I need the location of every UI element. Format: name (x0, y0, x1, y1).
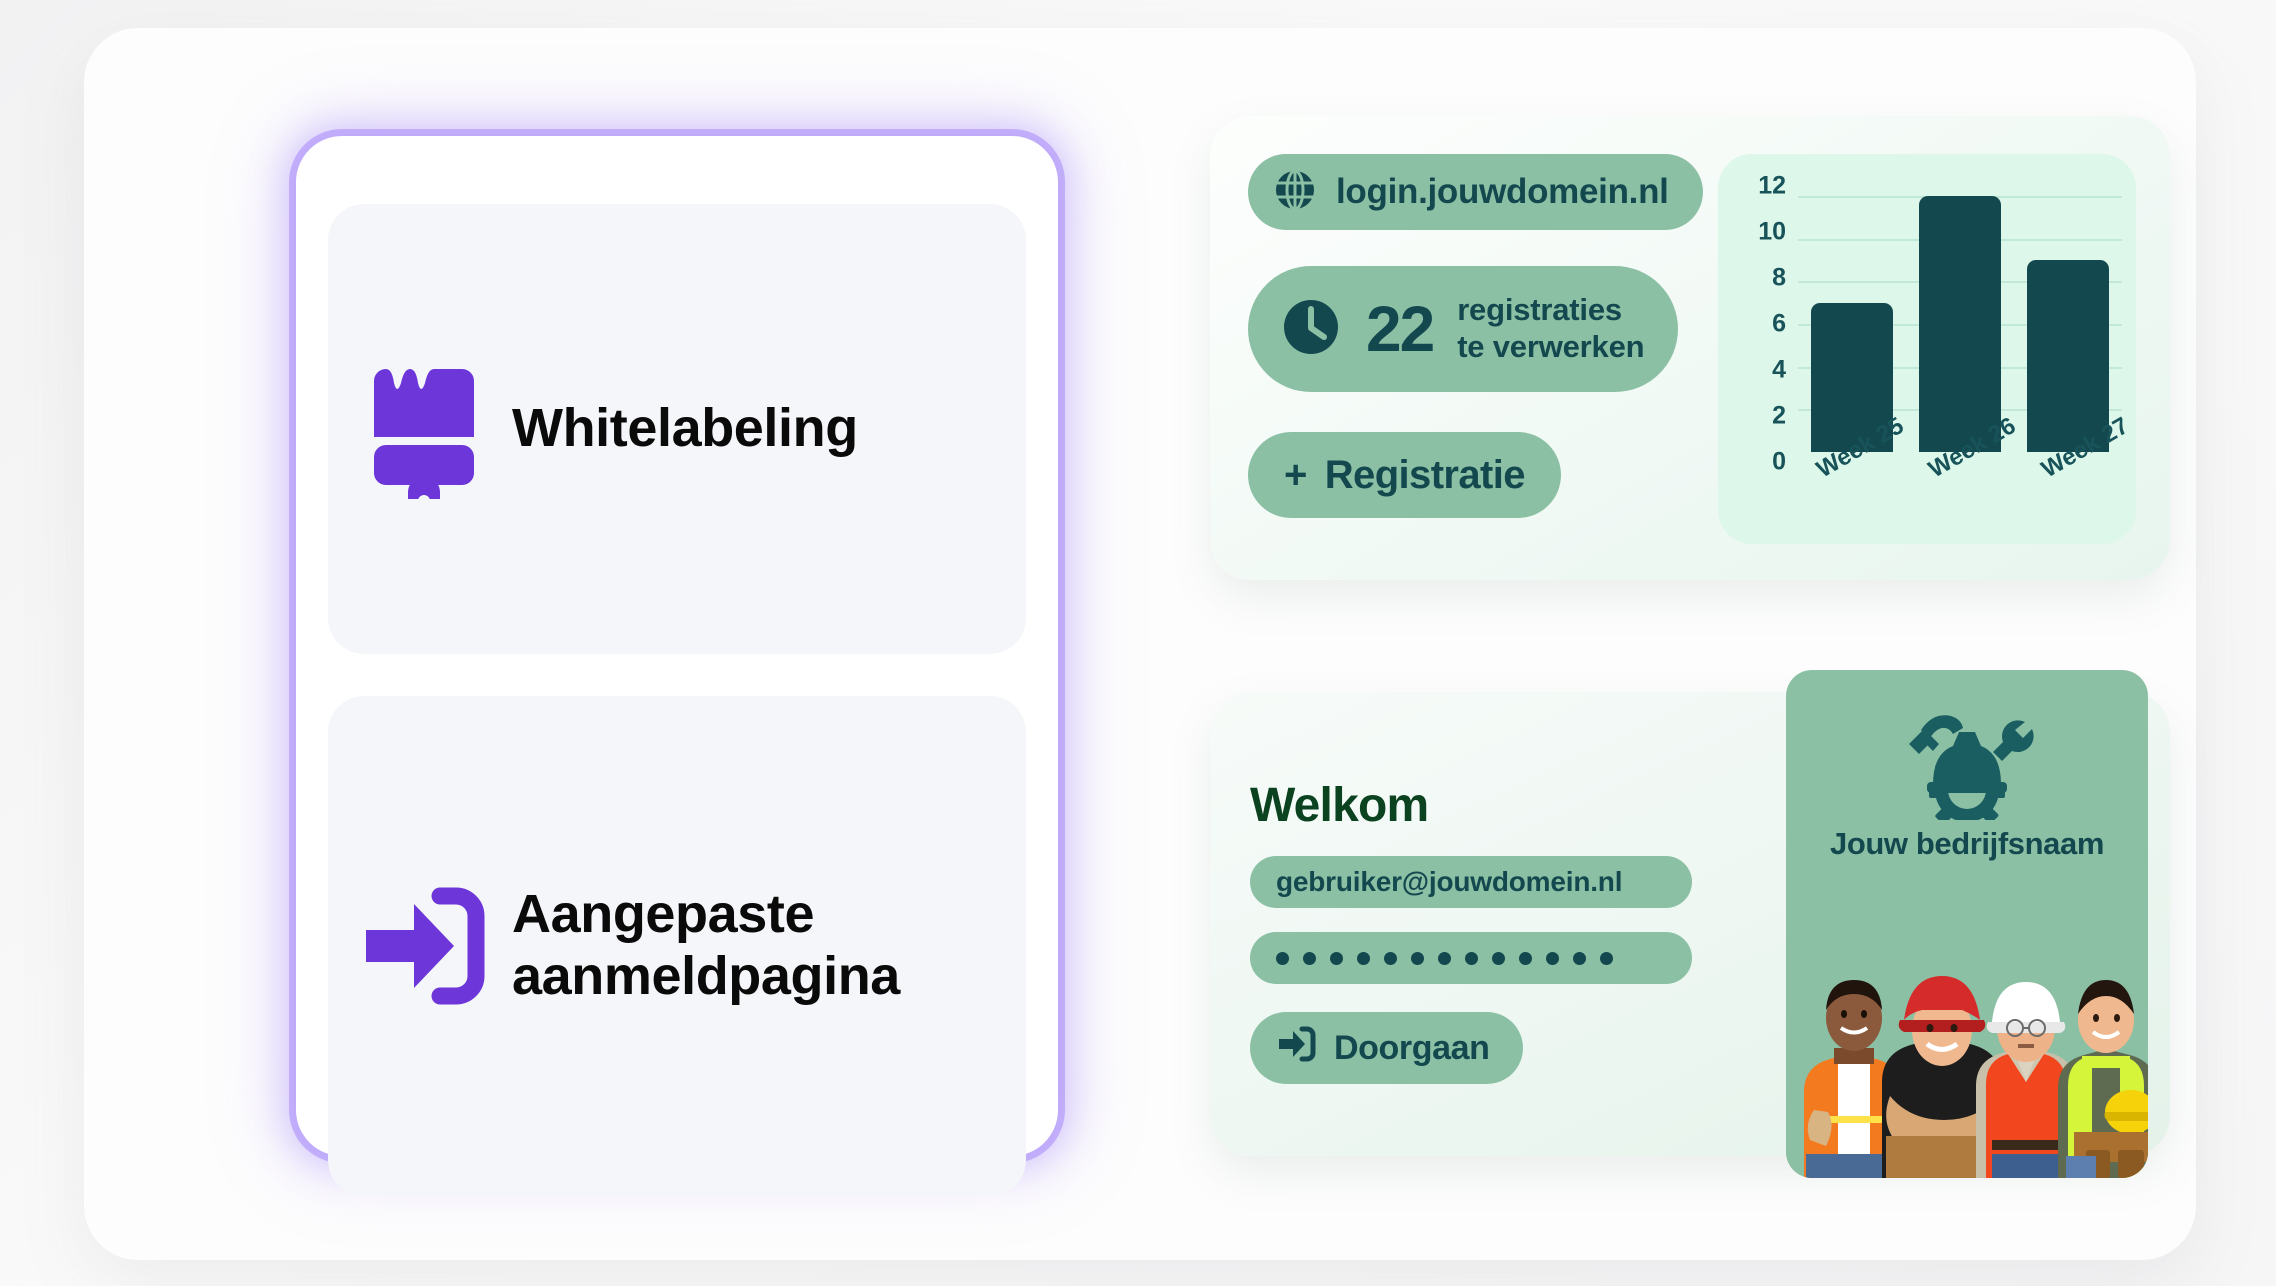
brand-name: Jouw bedrijfsnaam (1786, 826, 2148, 862)
page-root: Whitelabeling Aangepaste aanmeldpagina (0, 0, 2276, 1286)
password-masked-value (1276, 952, 1613, 965)
login-arrow-icon (1278, 1026, 1316, 1071)
chart-bar (2027, 260, 2109, 452)
email-field[interactable]: gebruiker@jouwdomein.nl (1250, 856, 1692, 908)
password-dot (1411, 952, 1424, 965)
brand-panel: Jouw bedrijfsnaam (1786, 670, 2148, 1178)
password-dot (1492, 952, 1505, 965)
password-dot (1573, 952, 1586, 965)
pending-registrations-stat: 22 registraties te verwerken (1248, 266, 1678, 392)
chart-x-axis: Week 25Week 26Week 27 (1798, 450, 2136, 530)
globe-icon (1274, 169, 1316, 216)
main-stage: Whitelabeling Aangepaste aanmeldpagina (84, 28, 2196, 1260)
pending-count: 22 (1366, 297, 1433, 361)
password-field[interactable] (1250, 932, 1692, 984)
add-registration-button[interactable]: + Registratie (1248, 432, 1561, 518)
clock-icon (1280, 296, 1342, 363)
chart-y-tick: 0 (1772, 448, 1786, 477)
feature-card-whitelabeling[interactable]: Whitelabeling (328, 204, 1026, 654)
password-dot (1384, 952, 1397, 965)
weekly-registrations-chart: 024681012 Week 25Week 26Week 27 (1718, 154, 2136, 544)
password-dot (1600, 952, 1613, 965)
plus-icon: + (1284, 453, 1307, 498)
continue-label: Doorgaan (1334, 1029, 1489, 1068)
construction-workers-team-photo (1786, 878, 2148, 1178)
whitelabeling-panel: Whitelabeling Aangepaste aanmeldpagina (296, 136, 1058, 1156)
chart-y-tick: 4 (1772, 356, 1786, 385)
chart-bar (1919, 196, 2001, 452)
pending-label-line-1: registraties (1457, 292, 1644, 329)
paintbrush-icon (358, 359, 490, 499)
domain-text: login.jouwdomein.nl (1336, 172, 1669, 212)
chart-y-tick: 12 (1758, 172, 1786, 201)
feature-label-line-2: aanmeldpagina (512, 946, 900, 1008)
continue-button[interactable]: Doorgaan (1250, 1012, 1523, 1084)
email-value: gebruiker@jouwdomein.nl (1276, 866, 1622, 898)
pending-label: registraties te verwerken (1457, 292, 1644, 365)
feature-label-line-1: Aangepaste (512, 884, 900, 946)
login-preview-card: Welkom gebruiker@jouwdomein.nl Doorgaan (1210, 692, 2170, 1156)
chart-y-axis: 024681012 (1742, 186, 1786, 462)
login-arrow-icon (358, 886, 490, 1006)
add-registration-label: Registratie (1325, 453, 1525, 498)
chart-plot-area (1798, 196, 2122, 452)
chart-inner: 024681012 (1742, 196, 2122, 452)
welcome-heading: Welkom (1250, 778, 1428, 833)
feature-label-login-page: Aangepaste aanmeldpagina (512, 884, 900, 1007)
pending-label-line-2: te verwerken (1457, 329, 1644, 366)
registrations-card: login.jouwdomein.nl 22 registraties te v… (1210, 116, 2170, 580)
construction-helmet-tools-icon (1897, 700, 2037, 825)
password-dot (1330, 952, 1343, 965)
password-dot (1303, 952, 1316, 965)
password-dot (1438, 952, 1451, 965)
password-dot (1276, 952, 1289, 965)
chart-y-tick: 10 (1758, 218, 1786, 247)
feature-card-login-page[interactable]: Aangepaste aanmeldpagina (328, 696, 1026, 1196)
feature-label-whitelabeling: Whitelabeling (512, 398, 858, 460)
password-dot (1519, 952, 1532, 965)
chart-y-tick: 2 (1772, 402, 1786, 431)
domain-pill[interactable]: login.jouwdomein.nl (1248, 154, 1703, 230)
chart-y-tick: 8 (1772, 264, 1786, 293)
password-dot (1357, 952, 1370, 965)
password-dot (1546, 952, 1559, 965)
chart-y-tick: 6 (1772, 310, 1786, 339)
password-dot (1465, 952, 1478, 965)
